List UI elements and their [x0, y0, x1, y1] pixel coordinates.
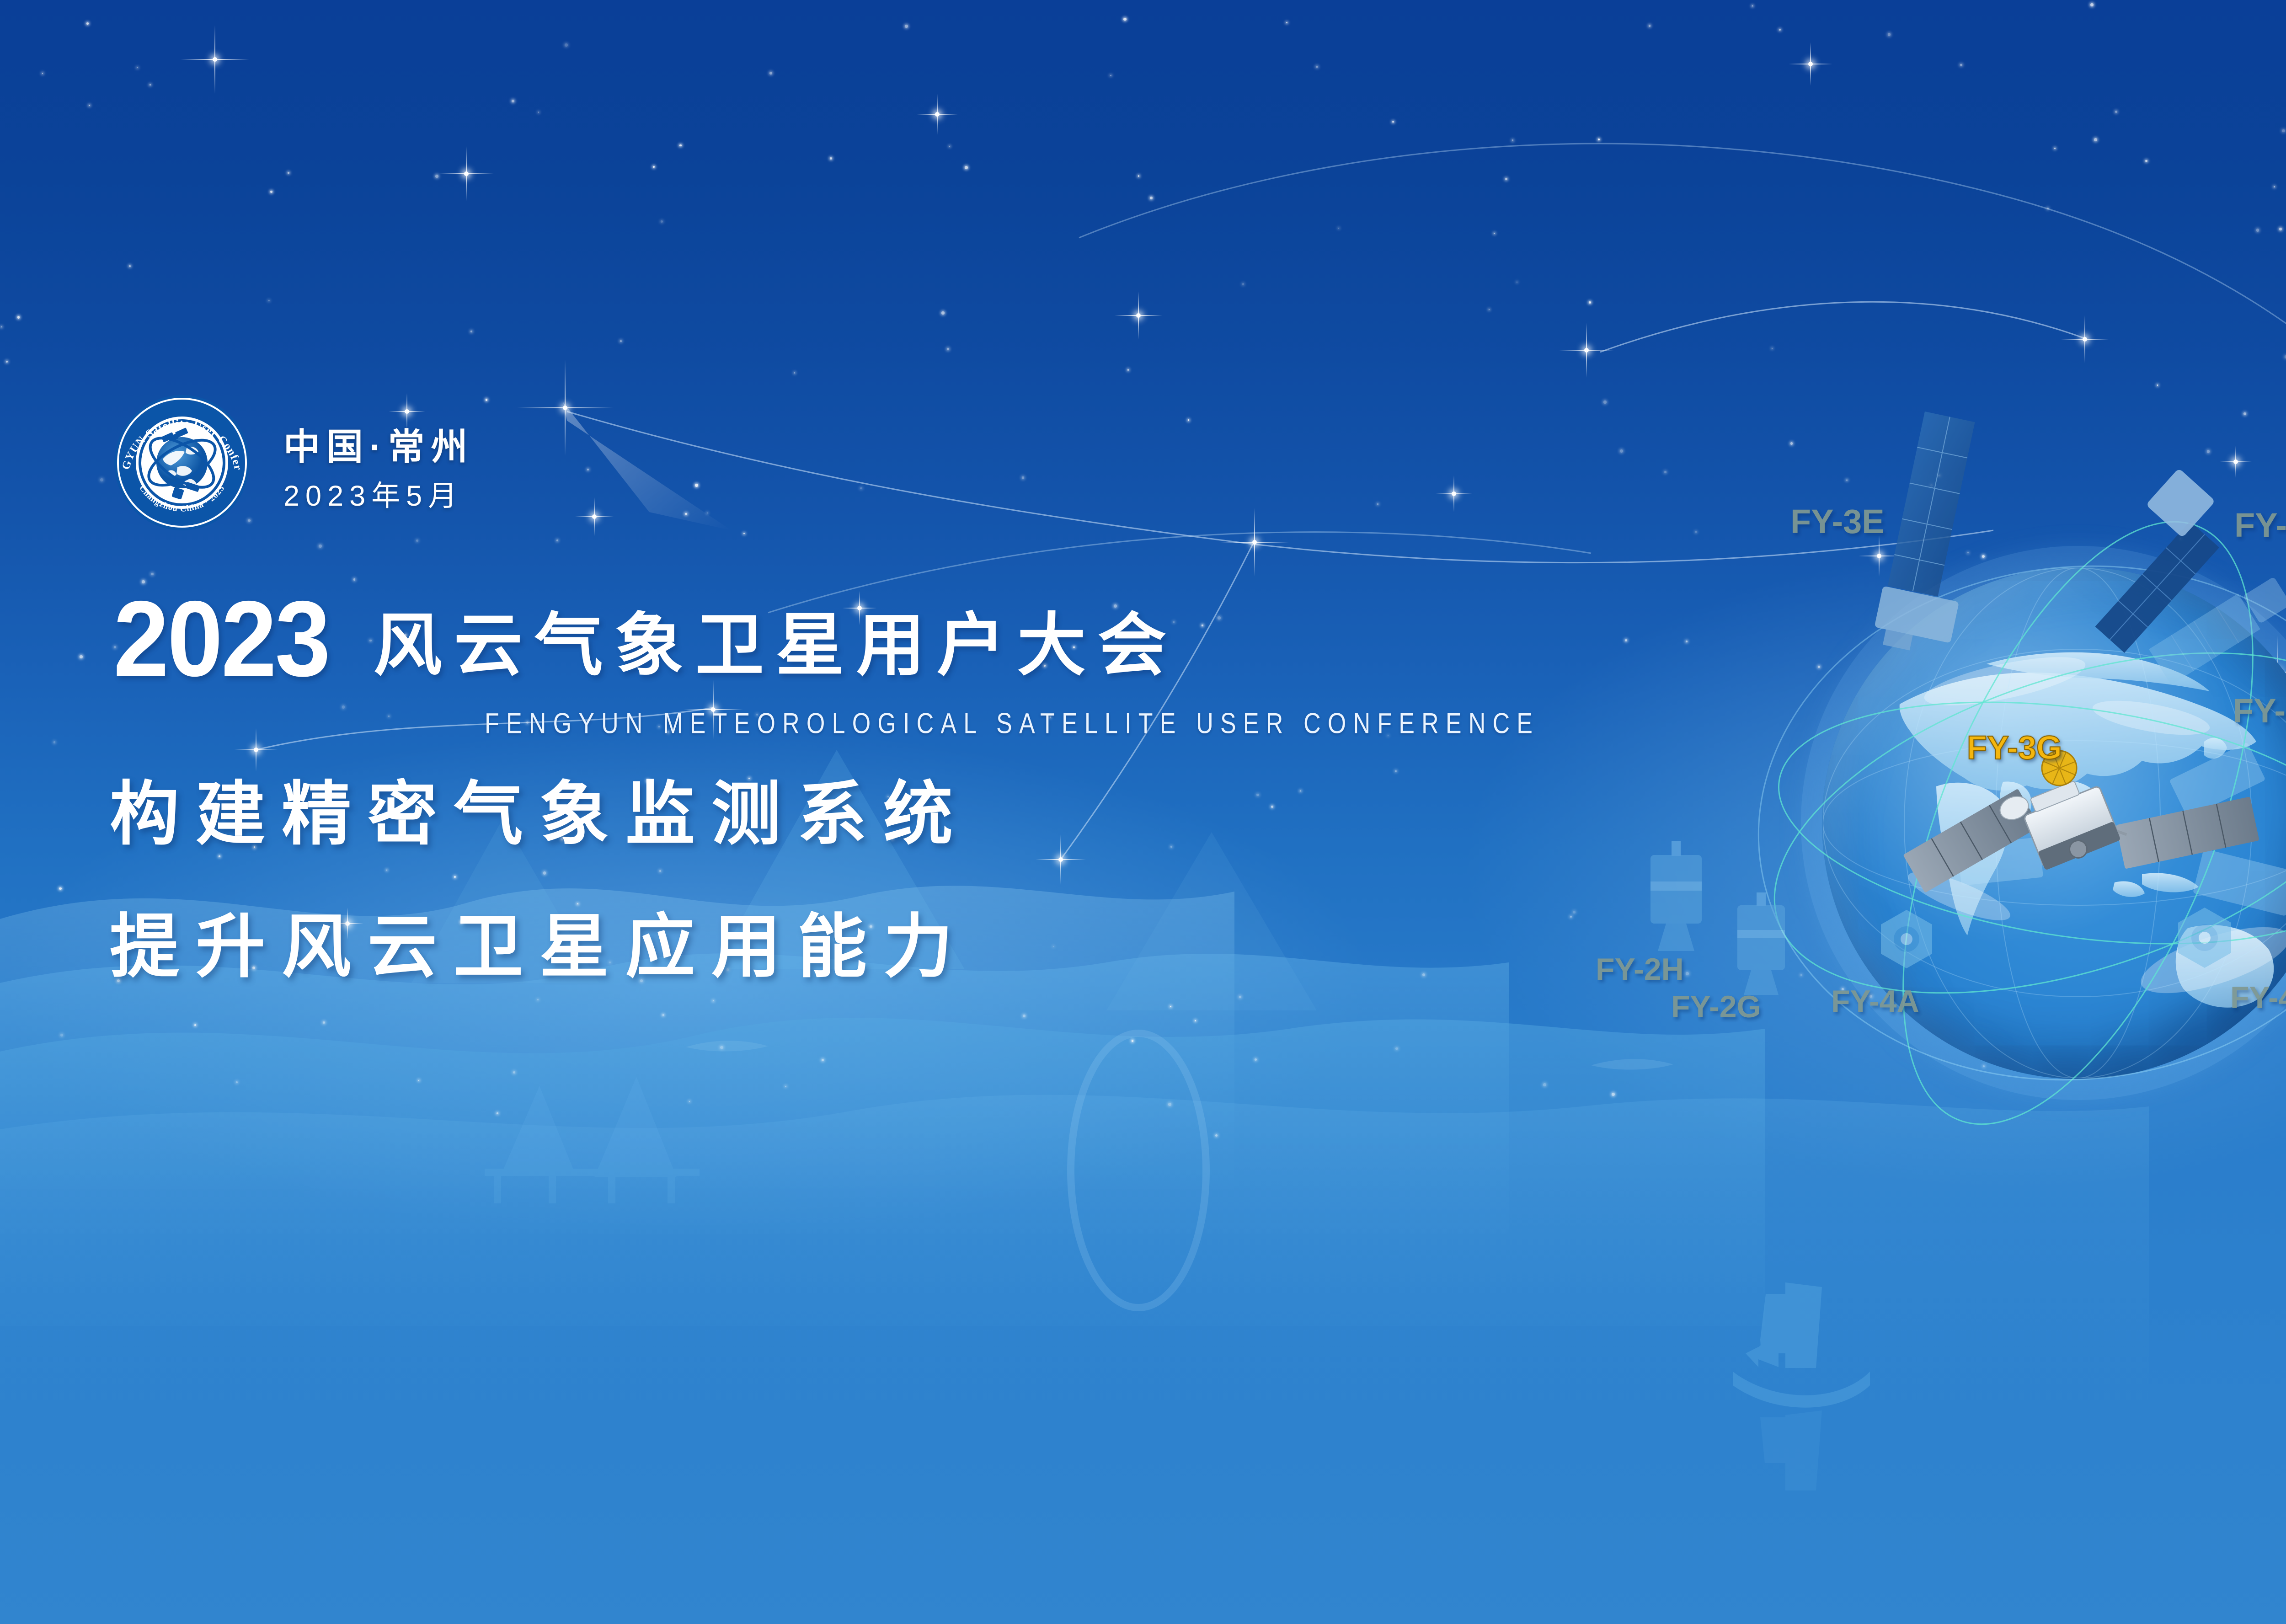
location-city: 中国·常州 [283, 429, 474, 465]
satellite-label-fy-3d: FY-3D [2233, 694, 2286, 728]
title-chinese: 风云气象卫星用户大会 [374, 611, 1178, 685]
satellite-label-fy-3g: FY-3G [1967, 732, 2062, 764]
satellite-label-fy-3e: FY-3E [1790, 505, 1885, 539]
main-title: 2023 风云气象卫星用户大会 [113, 593, 1178, 685]
satellite-label-fy-4b: FY-4B [2230, 982, 2286, 1013]
location-date: 2023年5月 [283, 482, 474, 511]
conference-seal-logo: FENGYUN Satellite User Conference Changz… [113, 394, 251, 531]
slogan-line-1: 构建精密气象监测系统 [110, 780, 969, 849]
satellite-label-fy-4a: FY-4A [1831, 986, 1919, 1017]
title-year: 2023 [113, 593, 329, 685]
title-english: FENGYUN METEOROLOGICAL SATELLITE USER CO… [485, 707, 1539, 740]
location-block: 中国·常州 2023年5月 [283, 429, 474, 511]
poster-canvas: FENGYUN Satellite User Conference Changz… [0, 0, 2286, 1624]
satellite-label-fy-2g: FY-2G [1671, 991, 1761, 1022]
satellite-label-fy-2h: FY-2H [1596, 954, 1684, 985]
satellite-label-fy-3c: FY-3C [2234, 508, 2286, 542]
slogan-line-2: 提升风云卫星应用能力 [110, 912, 969, 982]
